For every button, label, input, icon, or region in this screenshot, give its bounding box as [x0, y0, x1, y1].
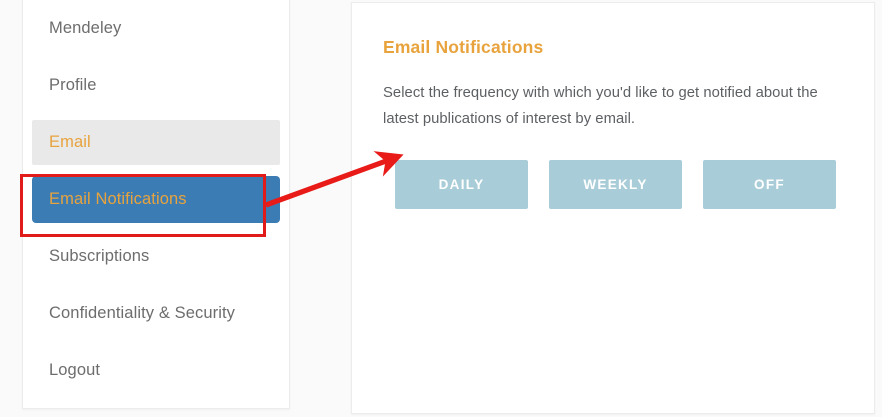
sidebar-item-label: Mendeley — [49, 19, 121, 38]
sidebar-item-label: Profile — [49, 76, 96, 95]
sidebar-item-mendeley[interactable]: Mendeley — [23, 0, 289, 57]
sidebar-item-logout[interactable]: Logout — [23, 342, 289, 399]
sidebar-item-label: Email — [49, 133, 91, 152]
settings-sidebar-panel: Mendeley Profile Email Email Notificatio… — [22, 0, 290, 409]
sidebar-item-confidentiality-security[interactable]: Confidentiality & Security — [23, 285, 289, 342]
nav-slot-confidentiality-security: Confidentiality & Security — [23, 285, 289, 342]
nav-slot-email-notifications: Email Notifications — [23, 171, 289, 228]
nav-slot-logout: Logout — [23, 342, 289, 399]
sidebar-item-label: Email Notifications — [49, 190, 187, 209]
sidebar-item-profile[interactable]: Profile — [23, 57, 289, 114]
sidebar-item-label: Subscriptions — [49, 247, 149, 266]
frequency-button-group: DAILY WEEKLY OFF — [395, 160, 836, 209]
settings-sidebar-nav: Mendeley Profile Email Email Notificatio… — [23, 0, 289, 399]
sidebar-item-label: Confidentiality & Security — [49, 304, 235, 323]
sidebar-item-email[interactable]: Email — [32, 120, 280, 165]
nav-slot-subscriptions: Subscriptions — [23, 228, 289, 285]
sidebar-item-subscriptions[interactable]: Subscriptions — [23, 228, 289, 285]
nav-slot-profile: Profile — [23, 57, 289, 114]
page-title: Email Notifications — [383, 37, 543, 58]
frequency-button-daily[interactable]: DAILY — [395, 160, 528, 209]
frequency-button-weekly[interactable]: WEEKLY — [549, 160, 682, 209]
panel-description: Select the frequency with which you'd li… — [383, 80, 853, 132]
nav-slot-mendeley: Mendeley — [23, 0, 289, 57]
email-notifications-panel: Email Notifications Select the frequency… — [351, 2, 875, 414]
sidebar-item-email-notifications[interactable]: Email Notifications — [32, 176, 280, 223]
nav-slot-email: Email — [23, 114, 289, 171]
sidebar-item-label: Logout — [49, 361, 100, 380]
frequency-button-off[interactable]: OFF — [703, 160, 836, 209]
